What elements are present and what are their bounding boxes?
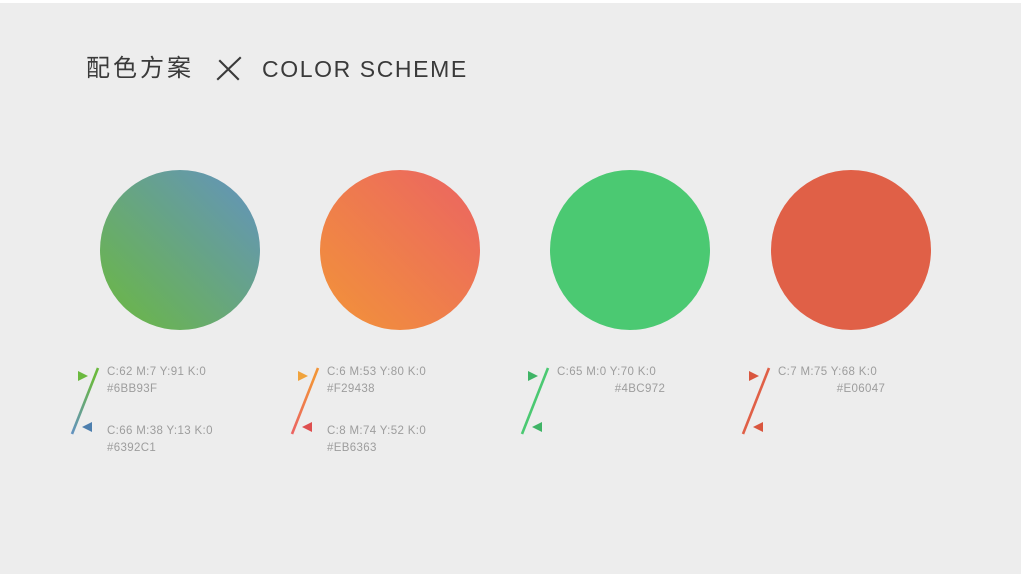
triangle-left-icon: [753, 422, 763, 432]
cross-slash-icon: [214, 54, 244, 84]
swatch-group-2: C:6 M:53 Y:80 K:0 #F29438 C:8 M:74 Y:52 …: [285, 170, 515, 330]
triangle-left-icon: [302, 422, 312, 432]
triangle-right-icon: [528, 371, 538, 381]
swatch-info-1: C:62 M:7 Y:91 K:0 #6BB93F C:66 M:38 Y:13…: [65, 362, 295, 457]
triangle-left-icon: [82, 422, 92, 432]
color-entry: C:7 M:75 Y:68 K:0 #E06047: [778, 364, 966, 397]
color-circle-2: [320, 170, 480, 330]
color-indicator-3: [515, 362, 557, 440]
color-codes-3: C:65 M:0 Y:70 K:0 #4BC972: [557, 362, 745, 397]
color-indicator-2: [285, 362, 327, 440]
color-indicator-4: [736, 362, 778, 440]
color-entry: C:8 M:74 Y:52 K:0 #EB6363: [327, 423, 515, 456]
hex-value: #E06047: [778, 381, 966, 398]
hex-value: #6392C1: [107, 440, 295, 457]
swatch-info-4: C:7 M:75 Y:68 K:0 #E06047: [736, 362, 966, 440]
swatch-group-4: C:7 M:75 Y:68 K:0 #E06047: [736, 170, 966, 330]
color-entry: C:65 M:0 Y:70 K:0 #4BC972: [557, 364, 745, 397]
triangle-right-icon: [78, 371, 88, 381]
swatch-group-3: C:65 M:0 Y:70 K:0 #4BC972: [515, 170, 745, 330]
color-indicator-1: [65, 362, 107, 440]
color-codes-2: C:6 M:53 Y:80 K:0 #F29438 C:8 M:74 Y:52 …: [327, 362, 515, 457]
hex-value: #6BB93F: [107, 381, 295, 398]
cmyk-value: C:7 M:75 Y:68 K:0: [778, 364, 966, 381]
hex-value: #4BC972: [557, 381, 745, 398]
cmyk-value: C:62 M:7 Y:91 K:0: [107, 364, 295, 381]
page-title: 配色方案 COLOR SCHEME: [86, 48, 468, 90]
page-title-chinese: 配色方案: [86, 57, 194, 81]
slide-canvas: 配色方案 COLOR SCHEME: [0, 0, 1021, 574]
swatch-group-1: C:62 M:7 Y:91 K:0 #6BB93F C:66 M:38 Y:13…: [65, 170, 295, 330]
color-circle-1: [100, 170, 260, 330]
hex-value: #F29438: [327, 381, 515, 398]
triangle-left-icon: [532, 422, 542, 432]
swatch-info-2: C:6 M:53 Y:80 K:0 #F29438 C:8 M:74 Y:52 …: [285, 362, 515, 457]
color-codes-4: C:7 M:75 Y:68 K:0 #E06047: [778, 362, 966, 397]
cmyk-value: C:65 M:0 Y:70 K:0: [557, 364, 745, 381]
color-entry: C:6 M:53 Y:80 K:0 #F29438: [327, 364, 515, 397]
color-codes-1: C:62 M:7 Y:91 K:0 #6BB93F C:66 M:38 Y:13…: [107, 362, 295, 457]
hex-value: #EB6363: [327, 440, 515, 457]
triangle-right-icon: [749, 371, 759, 381]
swatch-info-3: C:65 M:0 Y:70 K:0 #4BC972: [515, 362, 745, 440]
top-edge-band: [0, 0, 1021, 3]
cmyk-value: C:8 M:74 Y:52 K:0: [327, 423, 515, 440]
color-circle-4: [771, 170, 931, 330]
triangle-right-icon: [298, 371, 308, 381]
cmyk-value: C:66 M:38 Y:13 K:0: [107, 423, 295, 440]
color-circle-3: [550, 170, 710, 330]
color-entry: C:66 M:38 Y:13 K:0 #6392C1: [107, 423, 295, 456]
cmyk-value: C:6 M:53 Y:80 K:0: [327, 364, 515, 381]
page-title-english: COLOR SCHEME: [262, 58, 468, 81]
color-entry: C:62 M:7 Y:91 K:0 #6BB93F: [107, 364, 295, 397]
